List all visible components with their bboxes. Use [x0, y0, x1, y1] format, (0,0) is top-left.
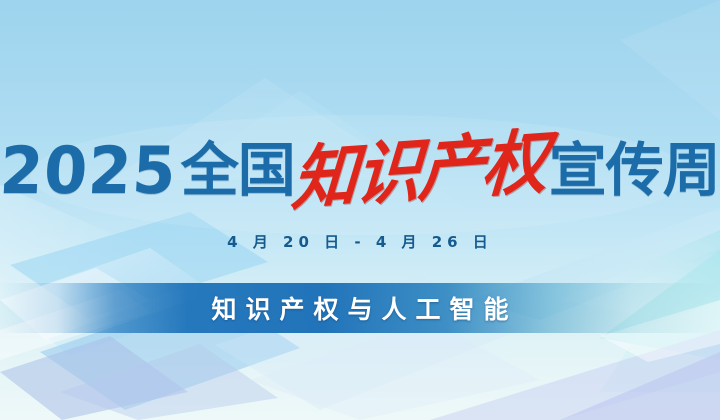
date-range: 4 月 20 日 - 4 月 26 日	[0, 231, 720, 252]
headline: 2025 全国 知识产权 宣传周	[0, 128, 720, 214]
ip-week-banner: 2025 全国 知识产权 宣传周 4 月 20 日 - 4 月 26 日 知识产…	[0, 0, 720, 420]
headline-calligraphy-ip: 知识产权	[289, 127, 548, 215]
slogan-text: 知识产权与人工智能	[0, 283, 720, 333]
headline-year: 2025	[0, 138, 178, 203]
headline-nationwide: 全国	[181, 142, 295, 200]
headline-publicity-week: 宣传周	[549, 142, 720, 200]
